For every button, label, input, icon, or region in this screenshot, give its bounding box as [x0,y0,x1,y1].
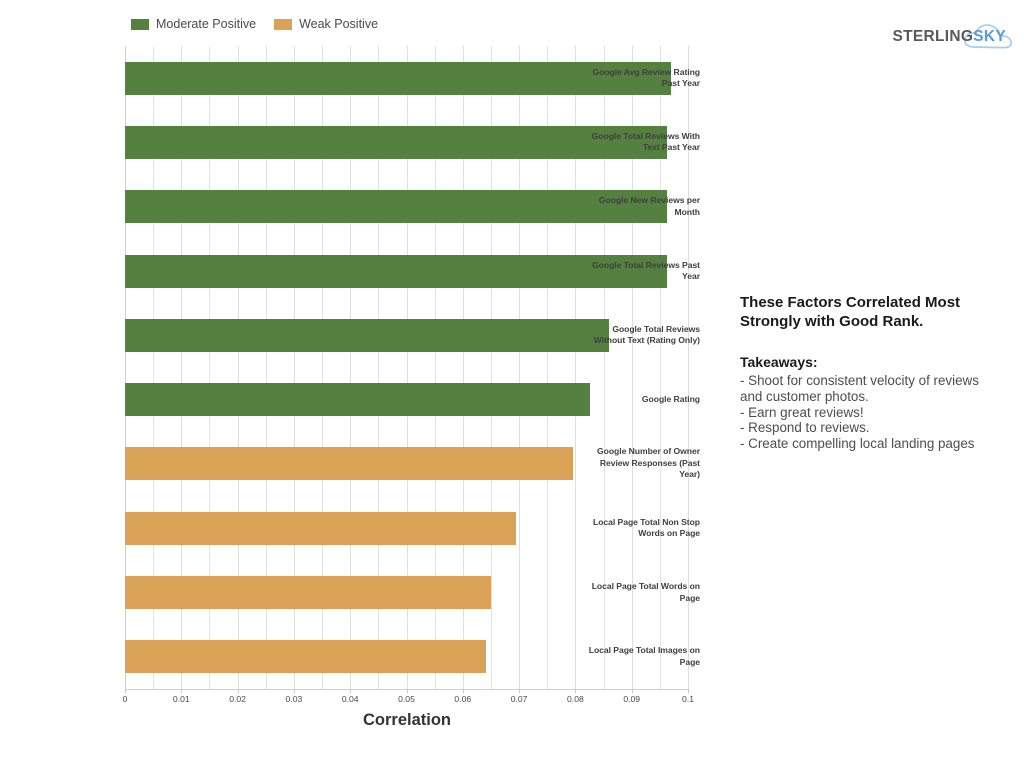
x-axis-tick-label: 0.06 [454,694,471,704]
y-axis-category-label: Google Total Reviews Past Year [582,260,700,283]
bar[interactable] [125,640,486,673]
logo-text: STERLINGSKY [892,28,1006,45]
logo-text-sky: SKY [973,28,1006,45]
x-axis-tick-label: 0.05 [398,694,415,704]
x-axis-tick-label: 0.09 [623,694,640,704]
x-axis-tick-mark [688,689,689,693]
x-axis-tick-mark [407,689,408,693]
logo-wrap: STERLINGSKY [892,29,1006,45]
x-axis-tick-label: 0.01 [173,694,190,704]
x-axis-title: Correlation [0,711,814,730]
x-axis-tick-mark [238,689,239,693]
y-axis-category-label: Google Avg Review Rating Past Year [582,67,700,90]
x-axis-tick-label: 0.02 [229,694,246,704]
y-axis-category-label: Google Total Reviews With Text Past Year [582,131,700,154]
panel-bullet: - Earn great reviews! [740,405,1016,421]
correlation-bar-chart: Correlation Google Avg Review Rating Pas… [0,0,700,763]
x-axis-tick-mark [181,689,182,693]
y-axis-category-label: Local Page Total Words on Page [582,581,700,604]
bar[interactable] [125,319,609,352]
bar[interactable] [125,576,491,609]
x-axis-tick-mark [519,689,520,693]
x-axis-tick-mark [294,689,295,693]
x-axis-tick-label: 0.08 [567,694,584,704]
x-axis-tick-label: 0 [123,694,128,704]
panel-bullet: - Create compelling local landing pages [740,436,1016,452]
panel-bullet: - Respond to reviews. [740,420,1016,436]
x-axis-tick-mark [575,689,576,693]
sterling-sky-logo: STERLINGSKY [892,22,1006,52]
y-axis-category-label: Google Number of Owner Review Responses … [582,446,700,481]
panel-bullet: - Shoot for consistent velocity of revie… [740,373,1016,389]
panel-bullet-list: - Shoot for consistent velocity of revie… [740,373,1016,452]
y-axis-category-label: Google Rating [582,394,700,406]
x-axis-tick-mark [350,689,351,693]
x-axis-tick-label: 0.1 [682,694,694,704]
takeaways-panel: These Factors Correlated Most Strongly w… [740,293,1016,452]
y-axis-category-label: Local Page Total Non Stop Words on Page [582,517,700,540]
logo-text-sterling: STERLING [892,28,973,45]
panel-subtitle: Takeaways: [740,353,1016,371]
y-axis-category-label: Local Page Total Images on Page [582,645,700,668]
panel-bullet: and customer photos. [740,389,1016,405]
x-axis-tick-label: 0.07 [511,694,528,704]
y-axis-category-label: Google New Reviews per Month [582,195,700,218]
panel-title: These Factors Correlated Most Strongly w… [740,293,1016,331]
bar[interactable] [125,512,516,545]
bar[interactable] [125,447,573,480]
x-axis-tick-mark [632,689,633,693]
x-axis-tick-mark [125,689,126,693]
x-axis-tick-mark [463,689,464,693]
x-axis-tick-label: 0.03 [286,694,303,704]
x-axis-tick-label: 0.04 [342,694,359,704]
y-axis-category-label: Google Total Reviews Without Text (Ratin… [582,324,700,347]
bar[interactable] [125,383,590,416]
